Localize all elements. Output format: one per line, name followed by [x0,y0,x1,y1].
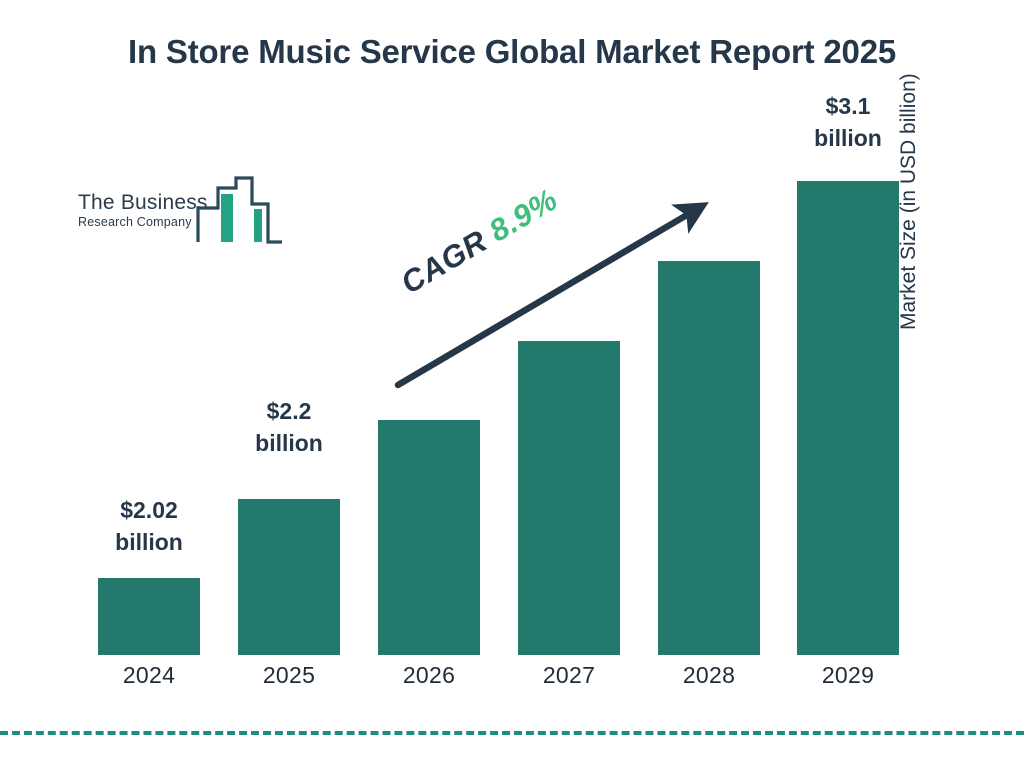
bar-2026 [378,420,480,655]
value-label-2025-unit: billion [229,428,349,460]
x-tick-2028: 2028 [639,662,779,689]
value-label-2029-unit: billion [788,123,908,155]
logo-line-1: The Business [78,192,208,214]
value-label-2029: $3.1 billion [788,91,908,154]
logo-line-2: Research Company [78,214,208,230]
x-tick-2024: 2024 [79,662,219,689]
logo-bar-chart-icon [196,176,284,248]
page-title: In Store Music Service Global Market Rep… [62,30,962,74]
x-tick-2026: 2026 [359,662,499,689]
value-label-2024: $2.02 billion [89,495,209,558]
company-logo: The Business Research Company [78,176,284,252]
chart-canvas: In Store Music Service Global Market Rep… [0,0,1024,768]
value-label-2025-amount: $2.2 [229,396,349,428]
bar-2029 [797,181,899,655]
x-tick-2029: 2029 [778,662,918,689]
x-tick-2027: 2027 [499,662,639,689]
value-label-2025: $2.2 billion [229,396,349,459]
bar-2025 [238,499,340,655]
footer-divider [0,731,1024,735]
y-axis-title: Market Size (in USD billion) [897,0,921,330]
value-label-2029-amount: $3.1 [788,91,908,123]
bar-2024 [98,578,200,655]
value-label-2024-amount: $2.02 [89,495,209,527]
x-tick-2025: 2025 [219,662,359,689]
logo-wordmark: The Business Research Company [78,192,208,230]
value-label-2024-unit: billion [89,527,209,559]
